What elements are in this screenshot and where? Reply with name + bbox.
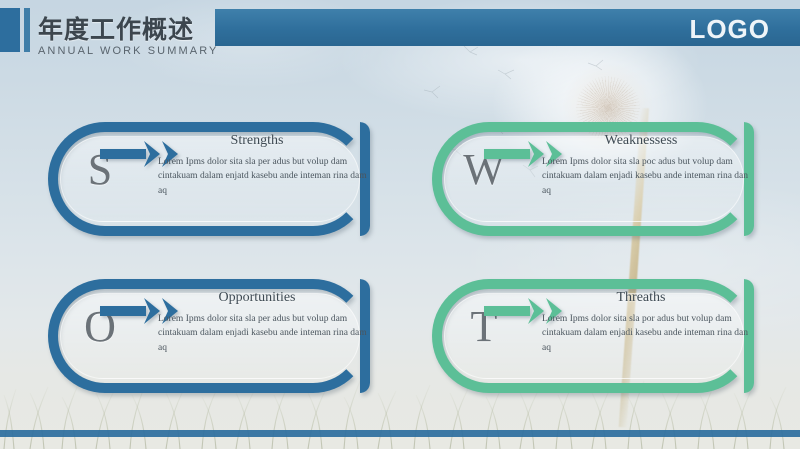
swot-card-opportunities[interactable]: O Opportunities Lorem Ipms dolor sita sl… [48,297,370,375]
card-body-text: Lorem Ipms dolor sita sla poc adus but v… [542,155,757,198]
card-title: Threaths [528,290,754,306]
page-title: 年度工作概述 [38,10,194,46]
card-body-text: Lorem Ipms dolor sita sla per adus but v… [158,312,373,355]
card-body-text: Lorem Ipms dolor sita sla por adus but v… [542,312,757,355]
slide: 年度工作概述 ANNUAL WORK SUMMARY LOGO S Streng… [0,0,800,449]
footer-accent-bar [0,430,800,437]
page-subtitle: ANNUAL WORK SUMMARY [38,45,218,57]
card-body-text: Lorem Ipms dolor sita sla per adus but v… [158,155,373,198]
swot-card-weaknessess[interactable]: W Weaknessess Lorem Ipms dolor sita sla … [432,140,754,218]
card-title: Opportunities [144,290,370,306]
card-title: Weaknessess [528,133,754,149]
logo-text: LOGO [689,14,770,45]
swot-card-threaths[interactable]: T Threaths Lorem Ipms dolor sita sla por… [432,297,754,375]
header-accent-block [0,8,20,52]
slide-header: 年度工作概述 ANNUAL WORK SUMMARY LOGO [0,0,800,70]
card-title: Strengths [144,133,370,149]
header-accent-bar [24,8,30,52]
swot-card-strengths[interactable]: S Strengths Lorem Ipms dolor sita sla pe… [48,140,370,218]
